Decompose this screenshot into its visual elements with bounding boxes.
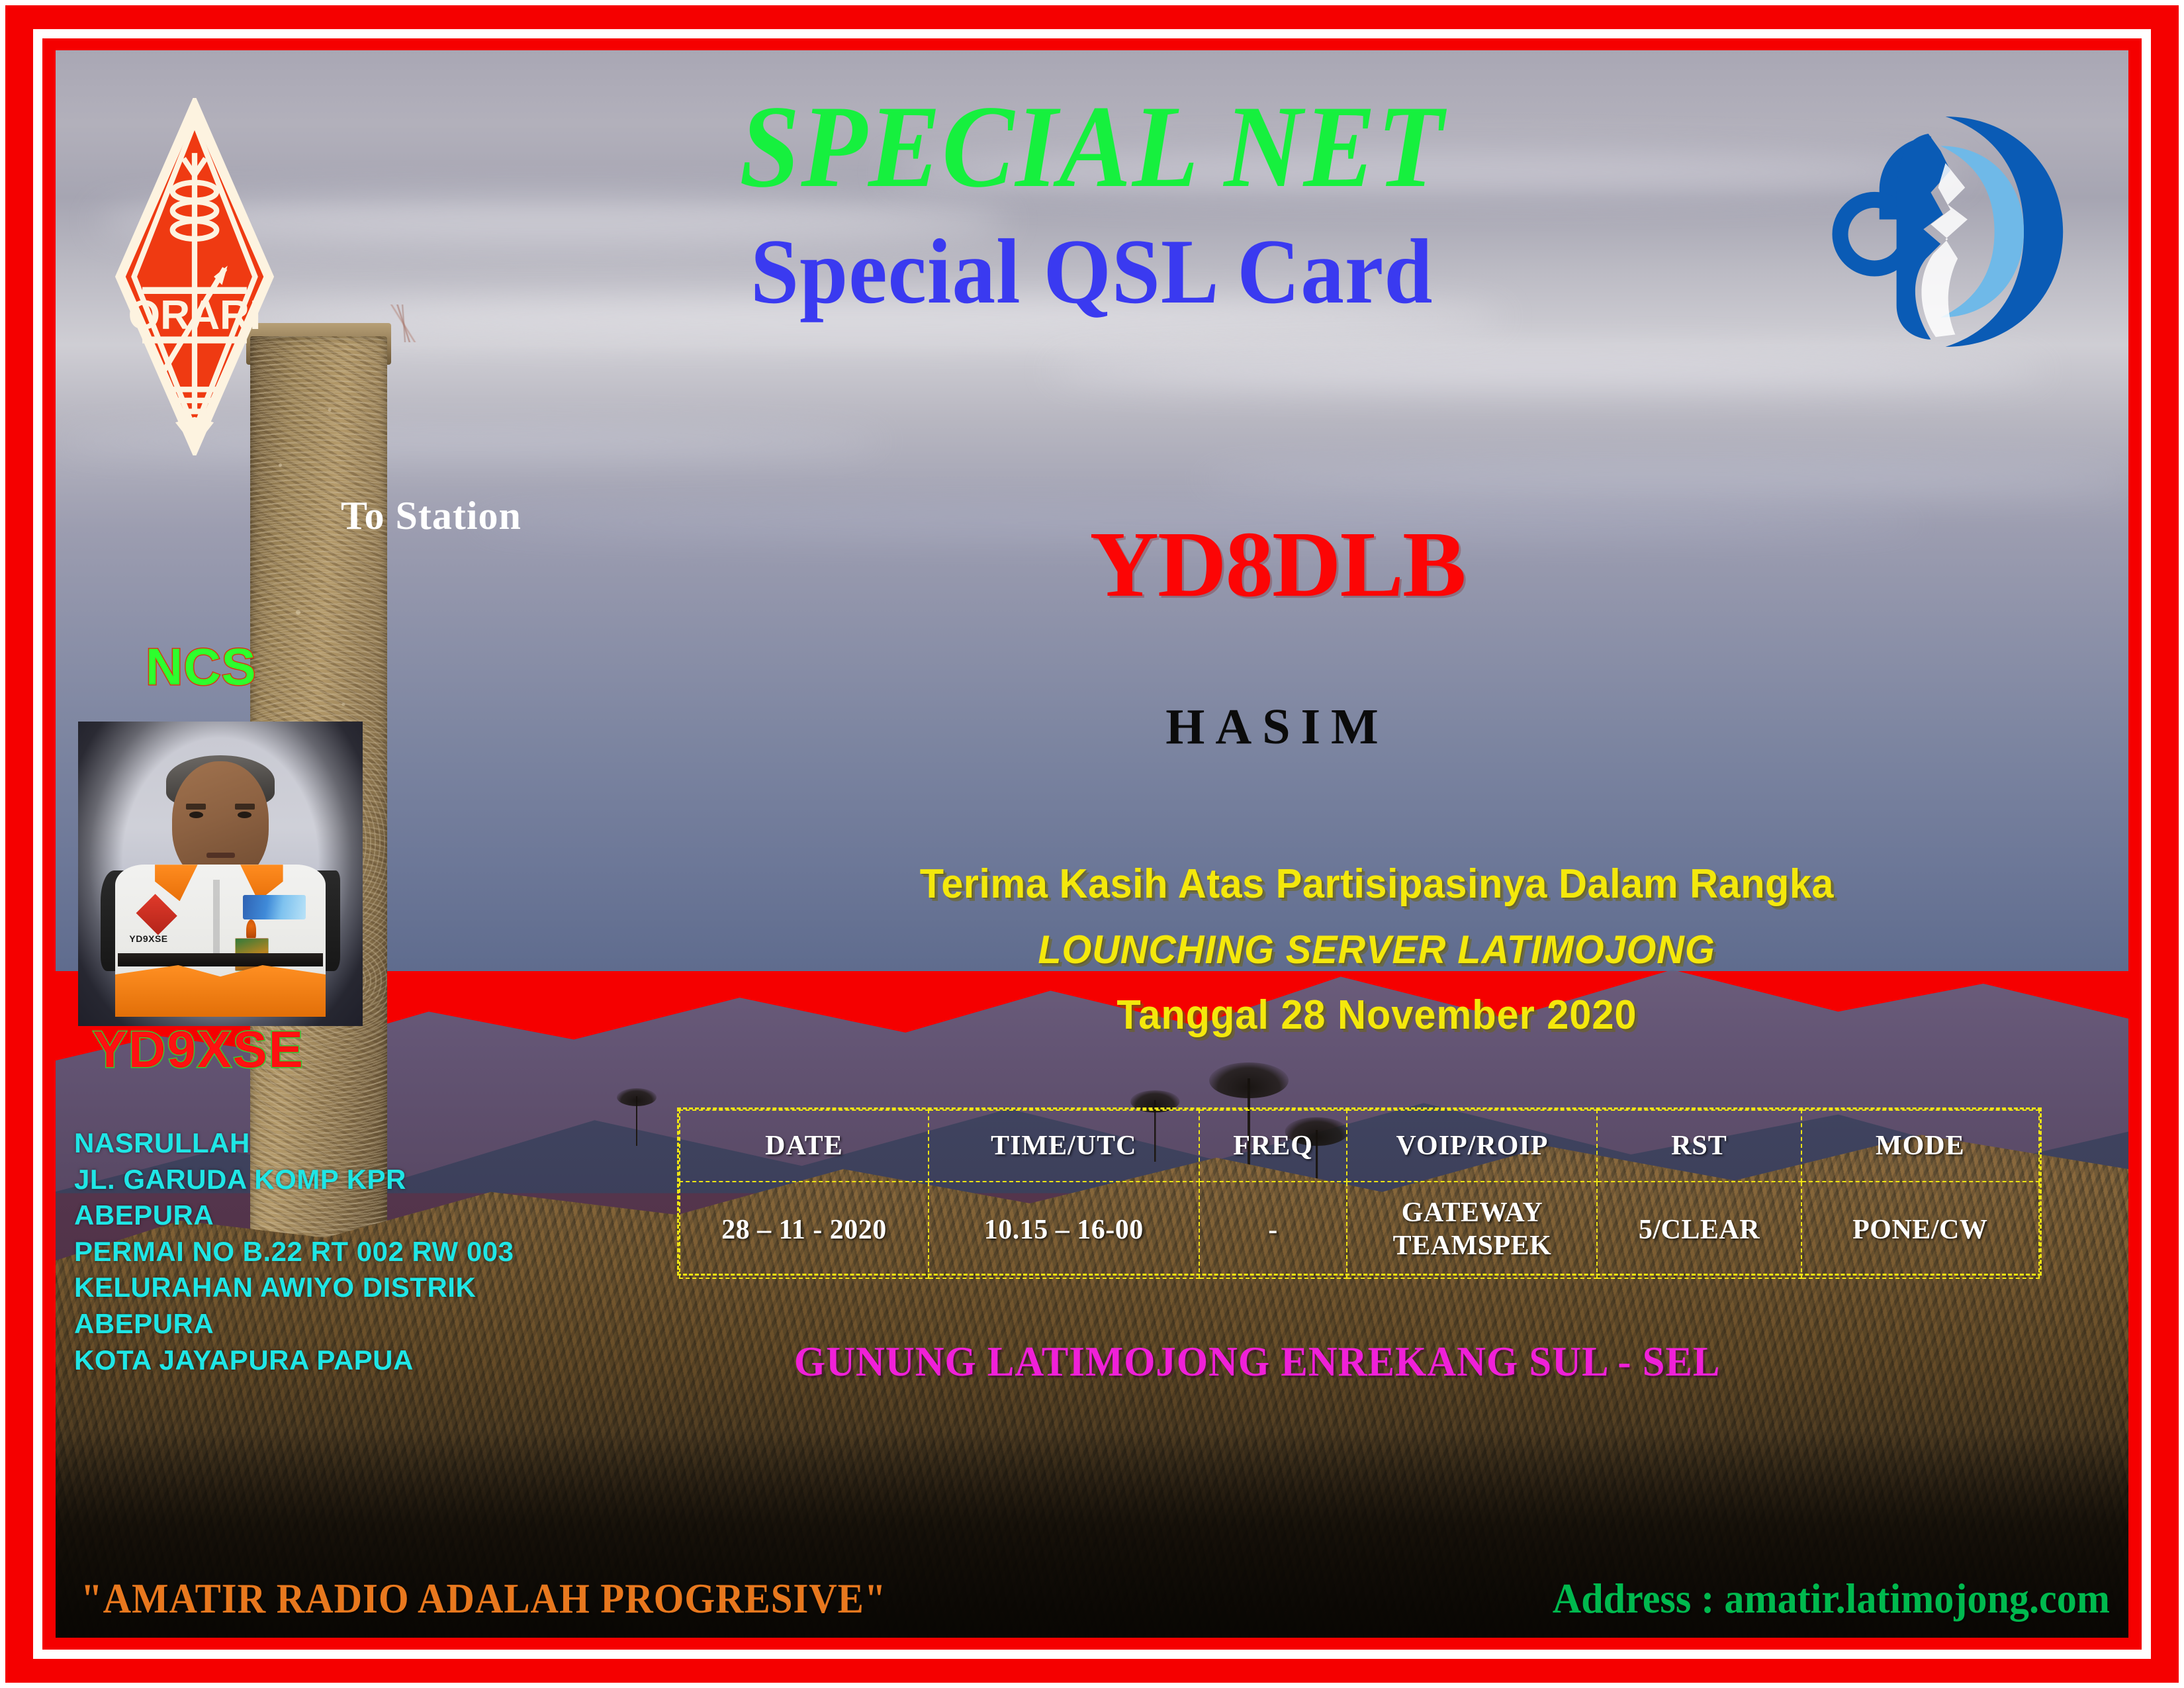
cell-rst: 5/CLEAR — [1597, 1182, 1801, 1278]
station-callsign: YD8DLB — [913, 510, 1641, 618]
table-header-row: DATE TIME/UTC FREQ VOIP/ROIP RST MODE — [680, 1110, 2039, 1182]
photo-uniform-callsign: YD9XSE — [129, 933, 192, 943]
table-header-rst: RST — [1597, 1110, 1801, 1182]
event-date-text: Tanggal 28 November 2020 — [1116, 992, 1637, 1039]
to-station-label: To Station — [341, 493, 522, 539]
title-special-qsl-card-text: Special QSL Card — [751, 218, 1433, 325]
thanks-line-text: Terima Kasih Atas Partisipasinya Dalam R… — [919, 861, 1833, 908]
cell-freq: - — [1199, 1182, 1347, 1278]
title-special-qsl-card: Special QSL Card — [0, 218, 2184, 325]
ncs-label: NCS — [146, 637, 257, 697]
ncs-operator-photo: YD9XSE — [78, 722, 363, 1026]
address-line: PERMAI NO B.22 RT 002 RW 003 — [74, 1234, 514, 1270]
table-header-date: DATE — [680, 1110, 929, 1182]
event-line-text: LOUNCHING SERVER LATIMOJONG — [1038, 927, 1715, 972]
address-line: KOTA JAYAPURA PAPUA — [74, 1342, 514, 1379]
website-address: Address : amatir.latimojong.com — [1553, 1574, 2110, 1623]
table-header-freq: FREQ — [1199, 1110, 1347, 1182]
address-line: NASRULLAH — [74, 1125, 514, 1162]
motto-text: "AMATIR RADIO ADALAH PROGRESIVE" — [81, 1574, 886, 1623]
table-header-time: TIME/UTC — [929, 1110, 1199, 1182]
operator-name: HASIM — [913, 698, 1641, 756]
cell-date: 28 – 11 - 2020 — [680, 1182, 929, 1278]
event-date-line: Tanggal 28 November 2020 — [728, 992, 2025, 1039]
photo-org-patch — [243, 895, 306, 919]
address-line: ABEPURA — [74, 1306, 514, 1342]
cell-mode: PONE/CW — [1801, 1182, 2040, 1278]
operator-name-text: HASIM — [1165, 698, 1389, 756]
cell-voip-line1: GATEWAY — [1347, 1197, 1596, 1230]
event-line: LOUNCHING SERVER LATIMOJONG — [728, 927, 2025, 972]
table-row: 28 – 11 - 2020 10.15 – 16-00 - GATEWAY T… — [680, 1182, 2039, 1278]
thanks-line: Terima Kasih Atas Partisipasinya Dalam R… — [728, 861, 2025, 908]
address-line: ABEPURA — [74, 1197, 514, 1234]
cell-time: 10.15 – 16-00 — [929, 1182, 1199, 1278]
table-header-voip: VOIP/ROIP — [1347, 1110, 1597, 1182]
station-callsign-text: YD8DLB — [1089, 510, 1465, 618]
title-special-net-text: SPECIAL NET — [739, 78, 1444, 214]
location-line: GUNUNG LATIMOJONG ENREKANG SUL - SEL — [629, 1337, 1886, 1386]
qsl-card: ORARI SPECIAL NET Special QSL Card To St… — [0, 0, 2184, 1688]
qso-log-table: DATE TIME/UTC FREQ VOIP/ROIP RST MODE 28… — [677, 1107, 2042, 1276]
station-address-block: NASRULLAH JL. GARUDA KOMP KPR ABEPURA PE… — [74, 1125, 514, 1378]
ncs-callsign: YD9XSE — [93, 1019, 304, 1080]
title-special-net: SPECIAL NET — [0, 78, 2184, 214]
cell-voip: GATEWAY TEAMSPEK — [1347, 1182, 1597, 1278]
address-line: JL. GARUDA KOMP KPR — [74, 1162, 514, 1198]
table-header-mode: MODE — [1801, 1110, 2040, 1182]
address-line: KELURAHAN AWIYO DISTRIK — [74, 1270, 514, 1306]
location-line-text: GUNUNG LATIMOJONG ENREKANG SUL - SEL — [794, 1337, 1721, 1386]
cell-voip-line2: TEAMSPEK — [1347, 1230, 1596, 1263]
